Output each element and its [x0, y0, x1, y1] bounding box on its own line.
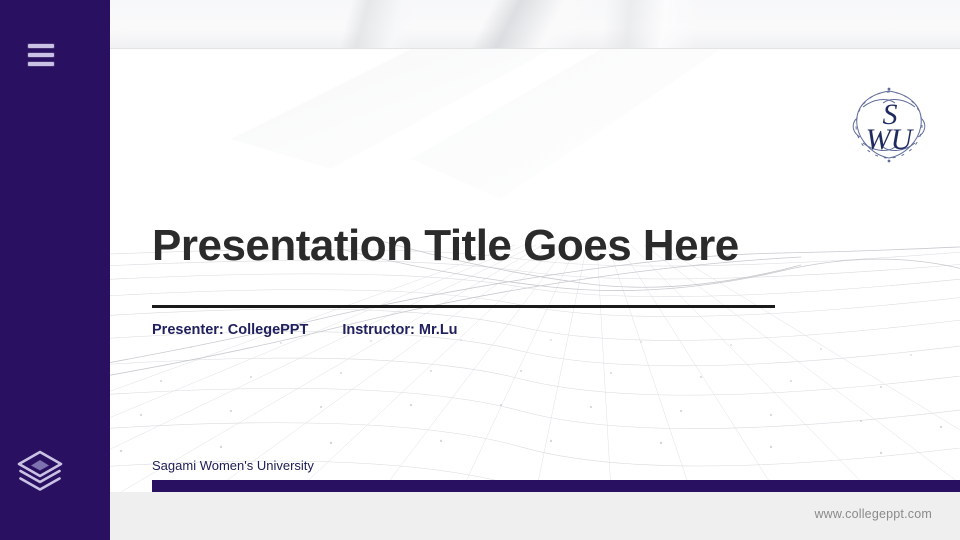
slide-accent-bar	[152, 480, 960, 492]
decorative-top-band	[110, 0, 960, 49]
institution-name: Sagami Women's University	[152, 458, 314, 473]
left-sidebar	[0, 0, 110, 540]
hamburger-bar-2	[28, 53, 54, 57]
slide-canvas: S WU Presentation Title Goes Here Presen…	[81, 49, 960, 492]
instructor-value: Mr.Lu	[419, 322, 458, 338]
title-divider	[152, 305, 775, 308]
hamburger-menu-icon[interactable]	[28, 44, 54, 66]
instructor-label: Instructor:	[342, 322, 415, 338]
logo-letters-bottom: WU	[866, 123, 915, 156]
instructor-field: Instructor: Mr.Lu	[342, 322, 457, 338]
presenter-label: Presenter:	[152, 322, 224, 338]
wireframe-mesh-graphic	[81, 235, 960, 492]
page-title: Presentation Title Goes Here	[152, 221, 739, 271]
site-watermark: www.collegeppt.com	[814, 507, 932, 521]
swu-monogram-logo: S WU	[843, 79, 935, 171]
hamburger-bar-1	[28, 44, 54, 48]
layers-stack-icon[interactable]	[16, 448, 64, 494]
presentation-meta: Presenter: CollegePPT Instructor: Mr.Lu	[152, 322, 458, 338]
presenter-field: Presenter: CollegePPT	[152, 322, 308, 338]
hamburger-bar-3	[28, 62, 54, 66]
presentation-viewer: S WU Presentation Title Goes Here Presen…	[0, 0, 960, 540]
presenter-value: CollegePPT	[228, 322, 309, 338]
